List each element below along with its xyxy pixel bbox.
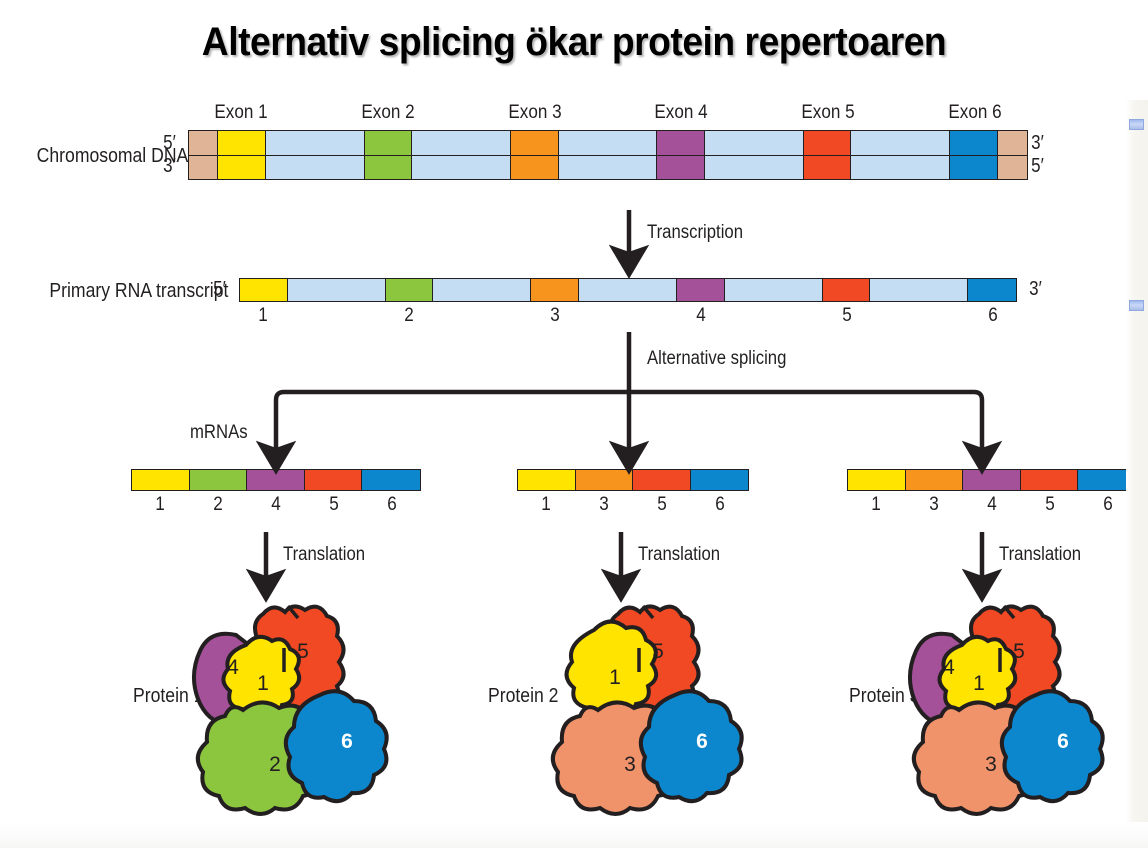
transcript-exon-5-8 — [823, 279, 871, 301]
protein-1-domain-2 — [198, 702, 327, 814]
protein-2-domain-6 — [641, 691, 742, 801]
protein-2-domain-number-1: 1 — [609, 666, 621, 690]
protein-1-domain-number-6: 6 — [341, 730, 353, 754]
mrna-1-exon-4-2 — [247, 470, 305, 490]
rail-mark-bottom[interactable] — [1129, 300, 1144, 311]
protein-2-group — [553, 606, 742, 814]
protein-1-domain-number-1: 1 — [257, 672, 269, 696]
dna-bottom-intron-6 — [559, 156, 658, 179]
mrna-3-number-4: 4 — [987, 494, 997, 516]
dna-bottom-exon-2-3 — [365, 156, 413, 179]
dna-top-utr-12 — [998, 131, 1027, 155]
translation-label-3: Translation — [999, 544, 1081, 566]
mrna-1-exon-2-1 — [190, 470, 248, 490]
protein-3-domain-5 — [966, 606, 1059, 723]
protein-2-domain-3 — [553, 702, 682, 814]
transcript-prime-left: 5′ — [213, 278, 226, 301]
transcript-exon-1-0 — [240, 279, 288, 301]
transcript-exon-number-4: 4 — [696, 305, 706, 327]
protein-2-domain-1 — [566, 621, 656, 716]
mrna-2-exon-3-1 — [576, 470, 634, 490]
dna-top-utr-0 — [189, 131, 218, 155]
dna-bottom-utr-0 — [189, 156, 218, 179]
protein-2-domain-5 — [605, 606, 698, 723]
dna-bottom-exon-4-7 — [657, 156, 705, 179]
protein-2-domain-number-3: 3 — [624, 753, 636, 777]
exon-header-2: Exon 2 — [361, 102, 414, 124]
mrna-3-number-6: 6 — [1103, 494, 1113, 516]
mrna-bar-1 — [131, 469, 421, 491]
protein-1-domain-number-5: 5 — [297, 640, 309, 664]
transcript-intron-9 — [870, 279, 968, 301]
mrna-1-numbers: 12456 — [131, 494, 421, 518]
transcript-intron-3 — [433, 279, 531, 301]
mrna-3-exon-4-2 — [963, 470, 1021, 490]
mrna-3-exon-1-0 — [848, 470, 906, 490]
mrna-1-number-2: 2 — [213, 494, 223, 516]
dna-prime-top-left: 5′ — [163, 132, 176, 155]
dna-top-intron-4 — [412, 131, 511, 155]
protein-2-domain-number-5: 5 — [652, 640, 664, 664]
mrna-3-exon-3-1 — [906, 470, 964, 490]
slide-canvas: Alternativ splicing ökar protein reperto… — [0, 0, 1148, 848]
dna-top-intron-2 — [266, 131, 365, 155]
dna-top-intron-10 — [851, 131, 950, 155]
protein-1-domain-number-4: 4 — [227, 656, 239, 680]
exon-header-1: Exon 1 — [215, 102, 268, 124]
mrna-bar-3 — [847, 469, 1137, 491]
dna-strand-top — [188, 130, 1028, 155]
dna-top-intron-8 — [705, 131, 804, 155]
mrna-2-number-3: 3 — [599, 494, 609, 516]
dna-bottom-intron-4 — [412, 156, 511, 179]
transcript-exon-numbers: 123456 — [239, 305, 1017, 329]
mrna-1-number-5: 5 — [329, 494, 339, 516]
protein-1-domain-6 — [286, 691, 387, 801]
protein-1-group — [194, 606, 387, 814]
mrna-2-number-1: 1 — [541, 494, 551, 516]
primary-rna-transcript-label: Primary RNA transcript — [49, 280, 228, 303]
mrna-1-exon-1-0 — [132, 470, 190, 490]
dna-bottom-exon-5-9 — [804, 156, 852, 179]
protein-1-domain-1 — [223, 637, 299, 716]
dna-bottom-utr-12 — [998, 156, 1027, 179]
transcript-exon-number-3: 3 — [550, 305, 560, 327]
protein-1-domain-4 — [194, 634, 254, 726]
dna-top-exon-4-7 — [657, 131, 705, 155]
protein-label-3: Protein 3 — [849, 685, 919, 708]
exon-header-5: Exon 5 — [801, 102, 854, 124]
protein-1-domain-5 — [250, 606, 343, 723]
protein-3-group — [910, 606, 1103, 814]
transcript-intron-5 — [579, 279, 677, 301]
protein-3-domain-1 — [939, 637, 1015, 716]
mrna-1-exon-5-3 — [305, 470, 363, 490]
mrna-2-number-6: 6 — [715, 494, 725, 516]
exon-header-4: Exon 4 — [655, 102, 708, 124]
protein-2-domain-number-6: 6 — [696, 730, 708, 754]
transcript-intron-7 — [725, 279, 823, 301]
bottom-edge-fade — [0, 822, 1148, 848]
dna-top-intron-6 — [559, 131, 658, 155]
dna-bottom-intron-8 — [705, 156, 804, 179]
right-edge-rail — [1126, 100, 1148, 830]
transcript-exon-number-2: 2 — [404, 305, 414, 327]
dna-strand-bottom — [188, 155, 1028, 180]
splicing-diagram: Chromosomal DNA 5′ 3′ 3′ 5′ Exon 1Exon 2… — [0, 100, 1148, 840]
transcript-intron-1 — [288, 279, 386, 301]
rail-mark-top[interactable] — [1129, 119, 1144, 130]
primary-rna-transcript-bar — [239, 278, 1017, 302]
mrna-3-number-1: 1 — [871, 494, 881, 516]
dna-top-exon-5-9 — [804, 131, 852, 155]
dna-top-exon-1-1 — [218, 131, 266, 155]
protein-3-domain-number-4: 4 — [943, 656, 955, 680]
exon-header-3: Exon 3 — [508, 102, 561, 124]
mrna-2-number-5: 5 — [657, 494, 667, 516]
dna-bottom-exon-3-5 — [511, 156, 559, 179]
transcript-exon-number-5: 5 — [842, 305, 852, 327]
mrna-1-number-4: 4 — [271, 494, 281, 516]
transcript-exon-number-1: 1 — [258, 305, 268, 327]
dna-bottom-intron-2 — [266, 156, 365, 179]
dna-prime-bottom-right: 5′ — [1031, 155, 1044, 178]
protein-3-domain-4 — [910, 634, 970, 726]
mrna-3-number-5: 5 — [1045, 494, 1055, 516]
transcript-exon-2-2 — [386, 279, 434, 301]
mrna-2-numbers: 1356 — [517, 494, 749, 518]
transcript-exon-3-4 — [531, 279, 579, 301]
mrna-3-exon-5-3 — [1021, 470, 1079, 490]
protein-label-2: Protein 2 — [488, 685, 558, 708]
mrna-2-exon-1-0 — [518, 470, 576, 490]
transcript-prime-right: 3′ — [1029, 278, 1042, 301]
splicing-bracket — [276, 392, 982, 400]
mrna-1-number-6: 6 — [387, 494, 397, 516]
dna-prime-bottom-left: 3′ — [163, 155, 176, 178]
mrna-3-number-3: 3 — [929, 494, 939, 516]
dna-bottom-intron-10 — [851, 156, 950, 179]
dna-prime-top-right: 3′ — [1031, 132, 1044, 155]
protein-3-domain-number-6: 6 — [1057, 730, 1069, 754]
transcript-exon-6-10 — [968, 279, 1016, 301]
alternative-splicing-label: Alternative splicing — [647, 348, 786, 370]
exon-header-6: Exon 6 — [948, 102, 1001, 124]
mrna-2-exon-5-2 — [633, 470, 691, 490]
mrna-2-exon-6-3 — [691, 470, 749, 490]
protein-3-domain-number-3: 3 — [985, 753, 997, 777]
mrna-3-numbers: 13456 — [847, 494, 1137, 518]
translation-label-2: Translation — [638, 544, 720, 566]
protein-3-domain-number-1: 1 — [973, 672, 985, 696]
mrnas-label: mRNAs — [190, 422, 248, 444]
dna-bottom-exon-6-11 — [950, 156, 998, 179]
protein-3-domain-3 — [914, 702, 1043, 814]
translation-label-1: Translation — [283, 544, 365, 566]
protein-1-domain-number-2: 2 — [269, 753, 281, 777]
transcript-exon-4-6 — [677, 279, 725, 301]
transcription-label: Transcription — [647, 222, 743, 244]
protein-label-1: Protein 1 — [133, 685, 203, 708]
dna-top-exon-6-11 — [950, 131, 998, 155]
mrna-bar-2 — [517, 469, 749, 491]
dna-top-exon-2-3 — [365, 131, 413, 155]
transcript-exon-number-6: 6 — [988, 305, 998, 327]
dna-top-exon-3-5 — [511, 131, 559, 155]
page-title: Alternativ splicing ökar protein reperto… — [40, 20, 1108, 65]
protein-3-domain-6 — [1002, 691, 1103, 801]
mrna-1-number-1: 1 — [155, 494, 165, 516]
dna-bottom-exon-1-1 — [218, 156, 266, 179]
mrna-1-exon-6-4 — [362, 470, 420, 490]
protein-3-domain-number-5: 5 — [1013, 640, 1025, 664]
